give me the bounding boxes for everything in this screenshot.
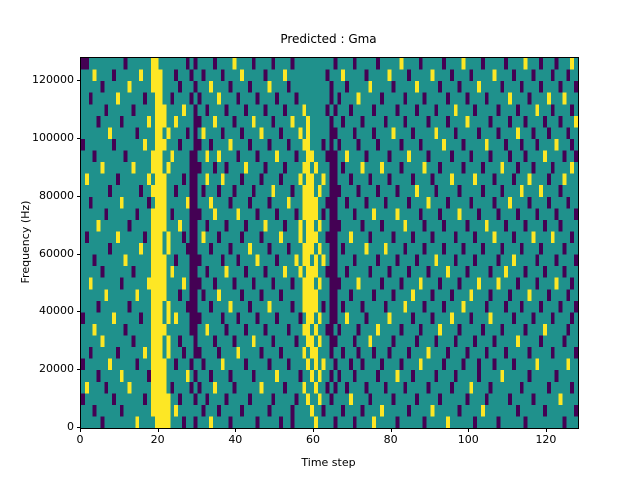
x-tick-label: 80 xyxy=(361,434,421,446)
x-axis-label: Time step xyxy=(80,456,577,469)
x-tick-mark xyxy=(468,428,469,432)
x-tick-mark xyxy=(391,428,392,432)
x-tick-label: 40 xyxy=(205,434,265,446)
x-tick-label: 120 xyxy=(516,434,576,446)
x-tick-label: 100 xyxy=(438,434,498,446)
x-tick-mark xyxy=(80,428,81,432)
x-tick-label: 60 xyxy=(283,434,343,446)
x-axis-ticks: 020406080100120 xyxy=(0,0,640,480)
x-tick-mark xyxy=(235,428,236,432)
x-tick-label: 20 xyxy=(128,434,188,446)
matplotlib-figure: Predicted : Gma 020000400006000080000100… xyxy=(0,0,640,480)
x-tick-label: 0 xyxy=(50,434,110,446)
x-tick-mark xyxy=(313,428,314,432)
x-tick-mark xyxy=(158,428,159,432)
y-axis-label: Frequency (Hz) xyxy=(19,57,33,427)
x-tick-mark xyxy=(546,428,547,432)
